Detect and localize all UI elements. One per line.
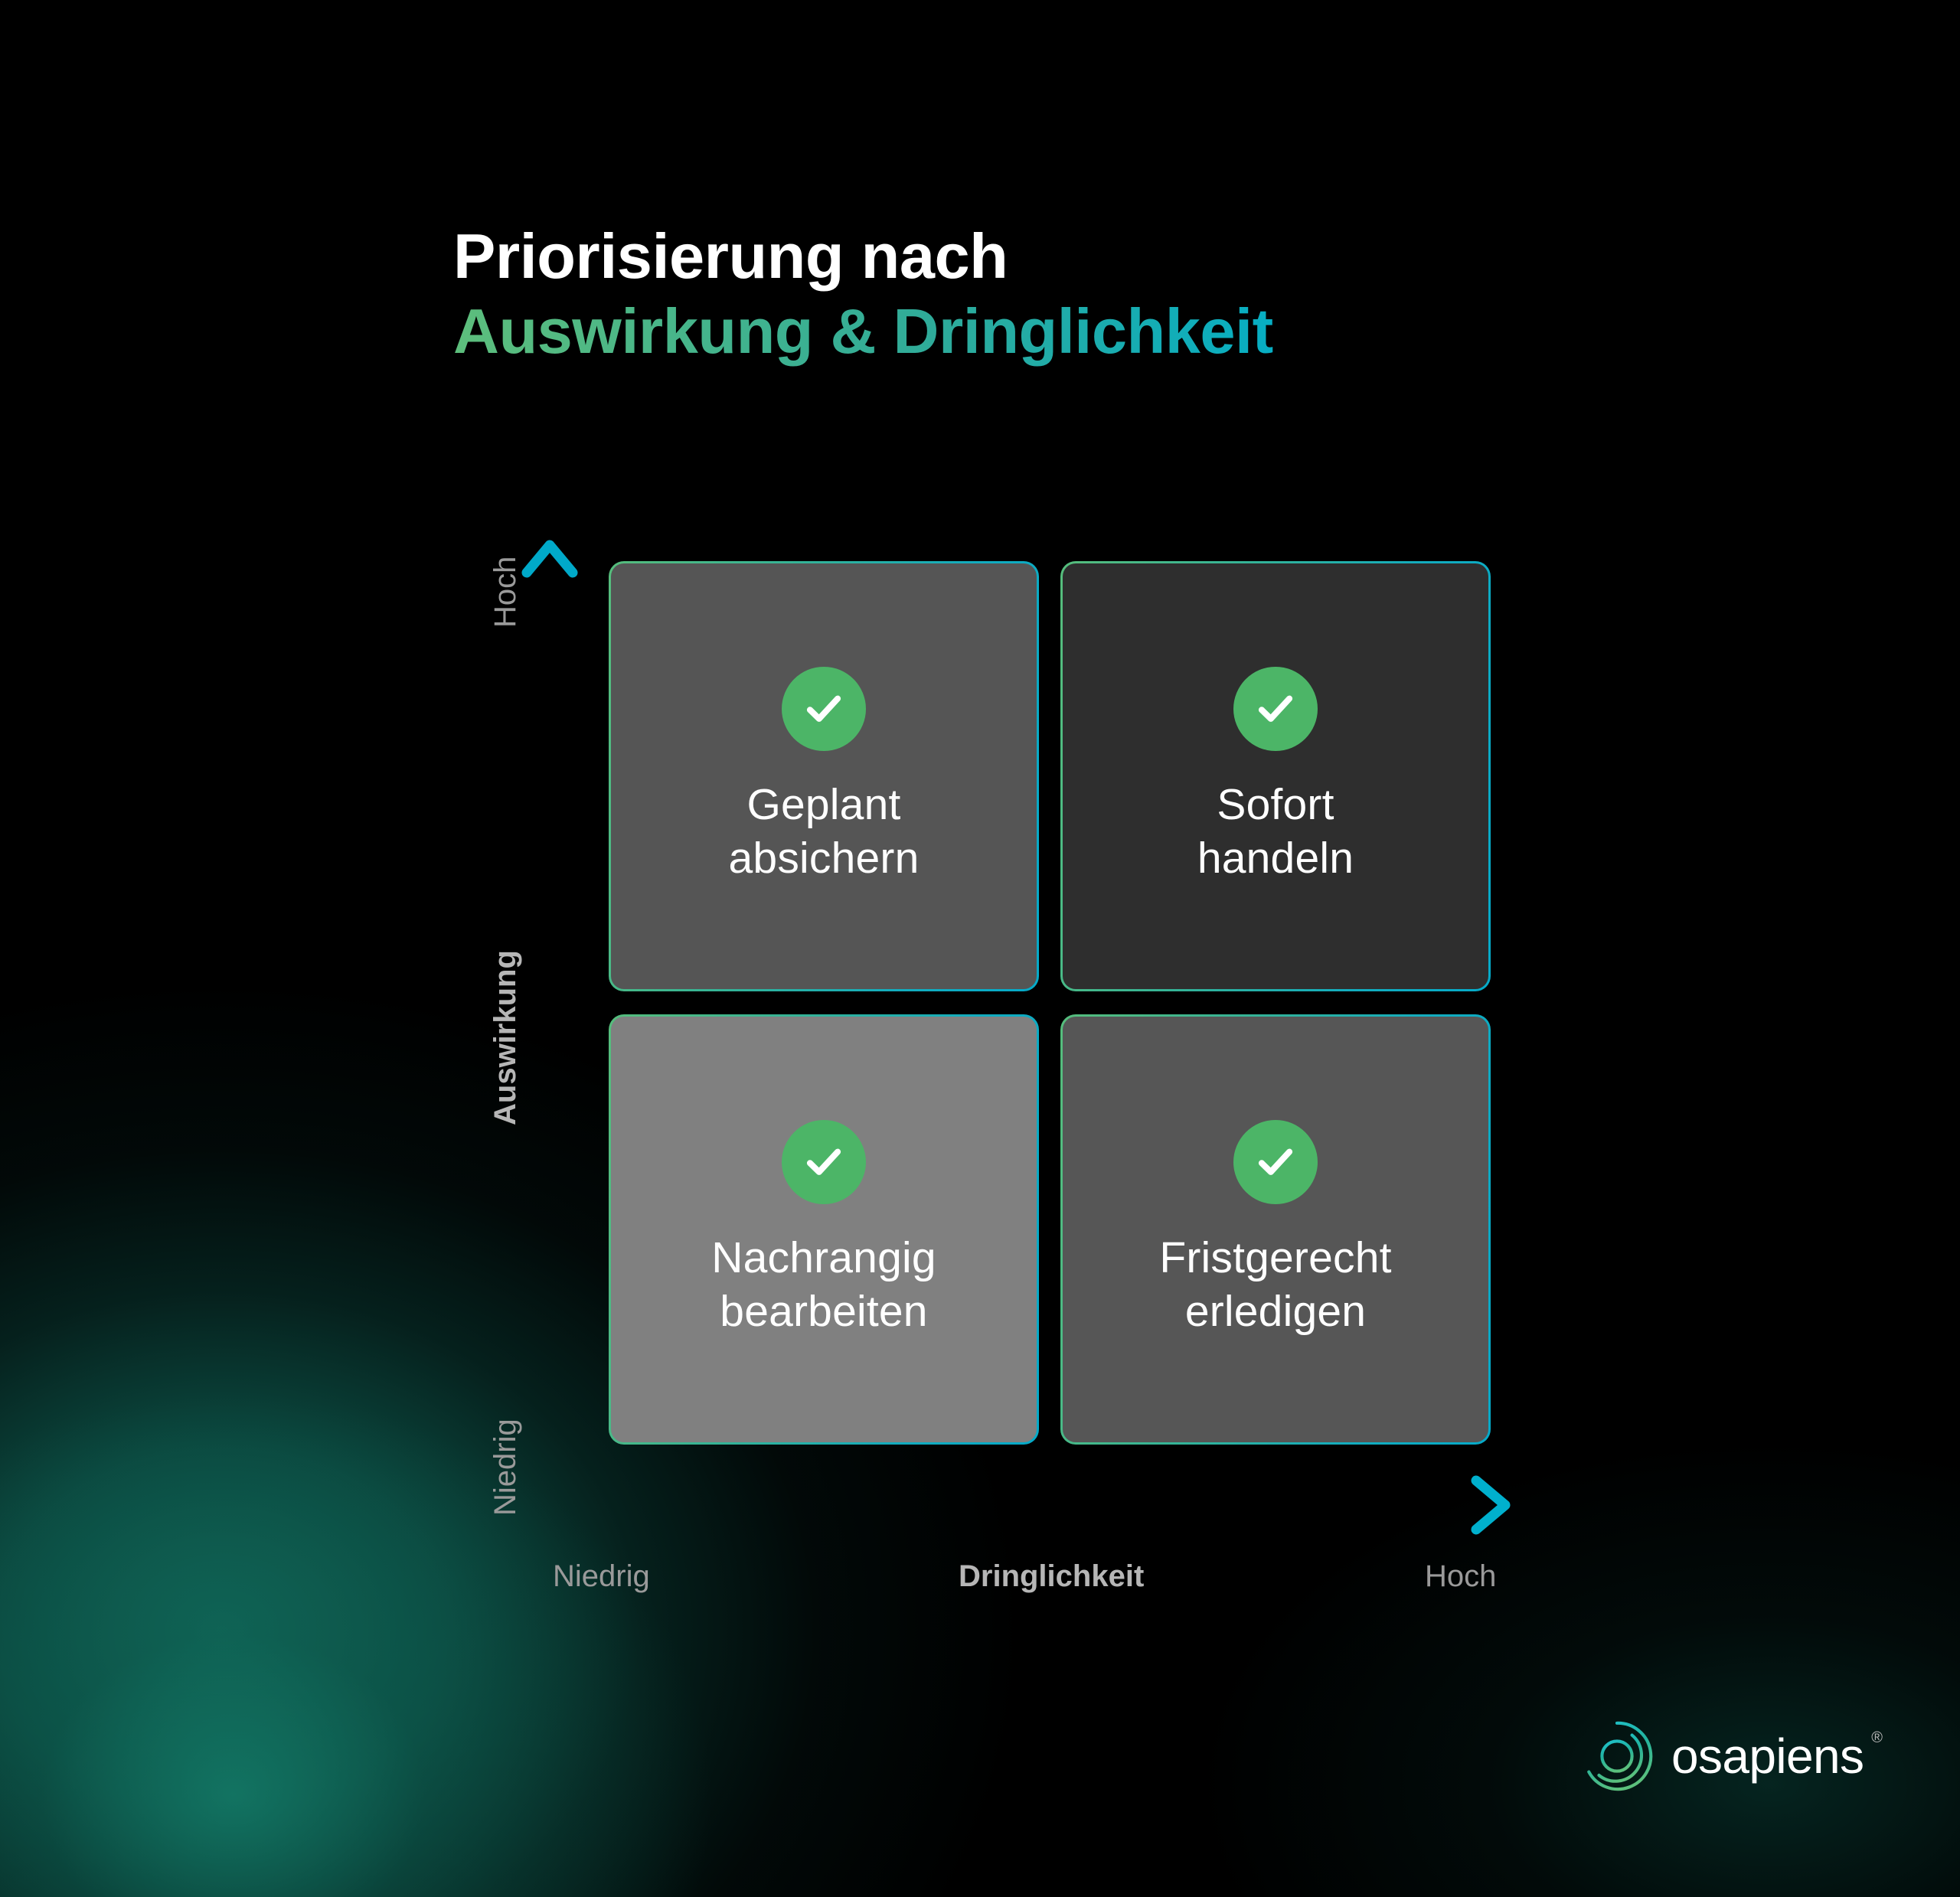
quadrant-body: Geplant absichern bbox=[611, 563, 1037, 989]
page-title-line-1: Priorisierung nach bbox=[453, 219, 1602, 294]
check-circle-icon bbox=[782, 1120, 866, 1204]
y-axis-tick-low: Niedrig bbox=[488, 1419, 523, 1516]
quadrant-high-impact-high-urgency[interactable]: Sofort handeln bbox=[1060, 561, 1491, 991]
quadrant-label: Geplant absichern bbox=[729, 779, 920, 885]
background-glow-bottom-left-core bbox=[0, 1393, 712, 1897]
x-axis-tick-low: Niedrig bbox=[553, 1559, 650, 1594]
page-title: Priorisierung nach Auswirkung & Dringlic… bbox=[453, 219, 1602, 369]
osapiens-logo-icon bbox=[1579, 1719, 1655, 1794]
quadrant-label: Fristgerecht erledigen bbox=[1159, 1232, 1391, 1338]
background-glow-bottom-right bbox=[1194, 1439, 1960, 1897]
x-axis-arrow bbox=[550, 1481, 1505, 1530]
osapiens-wordmark-text: osapiens bbox=[1671, 1729, 1864, 1784]
y-axis-arrow bbox=[527, 545, 573, 1505]
osapiens-wordmark: osapiens ® bbox=[1671, 1728, 1864, 1784]
quadrant-body: Fristgerecht erledigen bbox=[1063, 1017, 1488, 1442]
brand-logo: osapiens ® bbox=[1579, 1719, 1864, 1794]
quadrant-label: Sofort handeln bbox=[1197, 779, 1354, 885]
registered-trademark-icon: ® bbox=[1871, 1729, 1882, 1747]
check-circle-icon bbox=[1233, 1120, 1318, 1204]
page-title-line-2: Auswirkung & Dringlichkeit bbox=[453, 294, 1602, 369]
infographic-canvas: Priorisierung nach Auswirkung & Dringlic… bbox=[0, 0, 1960, 1897]
x-axis-title: Dringlichkeit bbox=[959, 1559, 1144, 1594]
y-axis-tick-high: Hoch bbox=[488, 557, 523, 628]
quadrant-high-impact-low-urgency[interactable]: Geplant absichern bbox=[609, 561, 1039, 991]
quadrant-low-impact-high-urgency[interactable]: Fristgerecht erledigen bbox=[1060, 1014, 1491, 1445]
check-circle-icon bbox=[1233, 667, 1318, 751]
x-axis-tick-high: Hoch bbox=[1425, 1559, 1496, 1594]
check-circle-icon bbox=[782, 667, 866, 751]
y-axis-title: Auswirkung bbox=[488, 950, 523, 1125]
quadrant-label: Nachrangig bearbeiten bbox=[711, 1232, 936, 1338]
quadrant-body: Nachrangig bearbeiten bbox=[611, 1017, 1037, 1442]
quadrant-body: Sofort handeln bbox=[1063, 563, 1488, 989]
quadrant-low-impact-low-urgency[interactable]: Nachrangig bearbeiten bbox=[609, 1014, 1039, 1445]
